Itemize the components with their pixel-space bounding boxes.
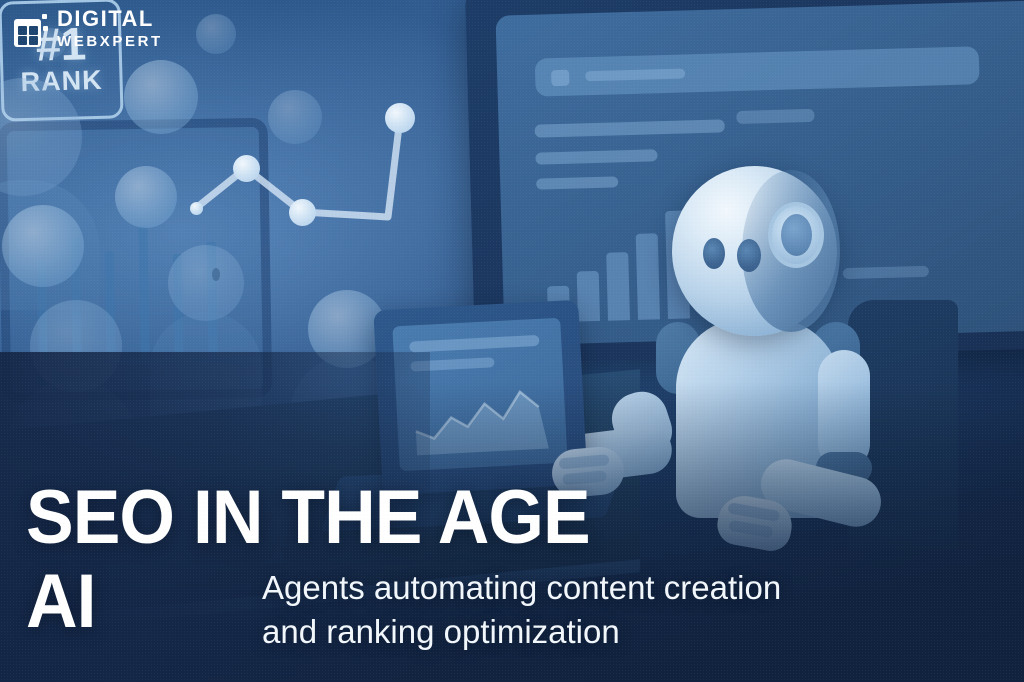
robot-eye-right [737,239,761,272]
result-line [843,266,929,279]
result-line [736,109,814,124]
background-orb [124,60,198,134]
background-orb [168,245,244,321]
result-line [535,119,725,137]
headline-line-2: AI [26,558,96,645]
background-orb [196,14,236,54]
monitor-bar [577,271,600,322]
grid-building-icon [14,10,48,48]
background-orb [268,90,322,144]
robot-ear-inner [781,214,812,256]
robot-eye-left [703,238,725,269]
chart-point [190,202,203,215]
subtitle-line-1: Agents automating content creation [262,566,922,610]
logo-line-1: DIGITAL [57,8,163,30]
chart-point [385,103,415,133]
logo-line-2: WEBXPERT [57,34,163,49]
background-orb [115,166,177,228]
hero-banner: #1 RANK [0,0,1024,682]
background-orb [2,205,84,287]
browser-favicon-icon [551,70,569,86]
result-line [536,176,618,189]
chart-bar [138,227,149,359]
chart-point [233,155,260,182]
result-line [535,149,657,164]
monitor-bar [636,233,660,320]
headline-line-1: SEO IN THE AGE [26,474,590,561]
monitor-bar [606,252,630,321]
subtitle: Agents automating content creation and r… [262,566,922,653]
silhouette-eye [212,268,220,281]
subtitle-line-2: and ranking optimization [262,610,922,654]
brand-logo[interactable]: DIGITAL WEBXPERT [14,8,163,49]
chart-point [289,199,316,226]
laptop-ui-line [409,335,539,353]
logo-wordmark: DIGITAL WEBXPERT [57,8,163,49]
